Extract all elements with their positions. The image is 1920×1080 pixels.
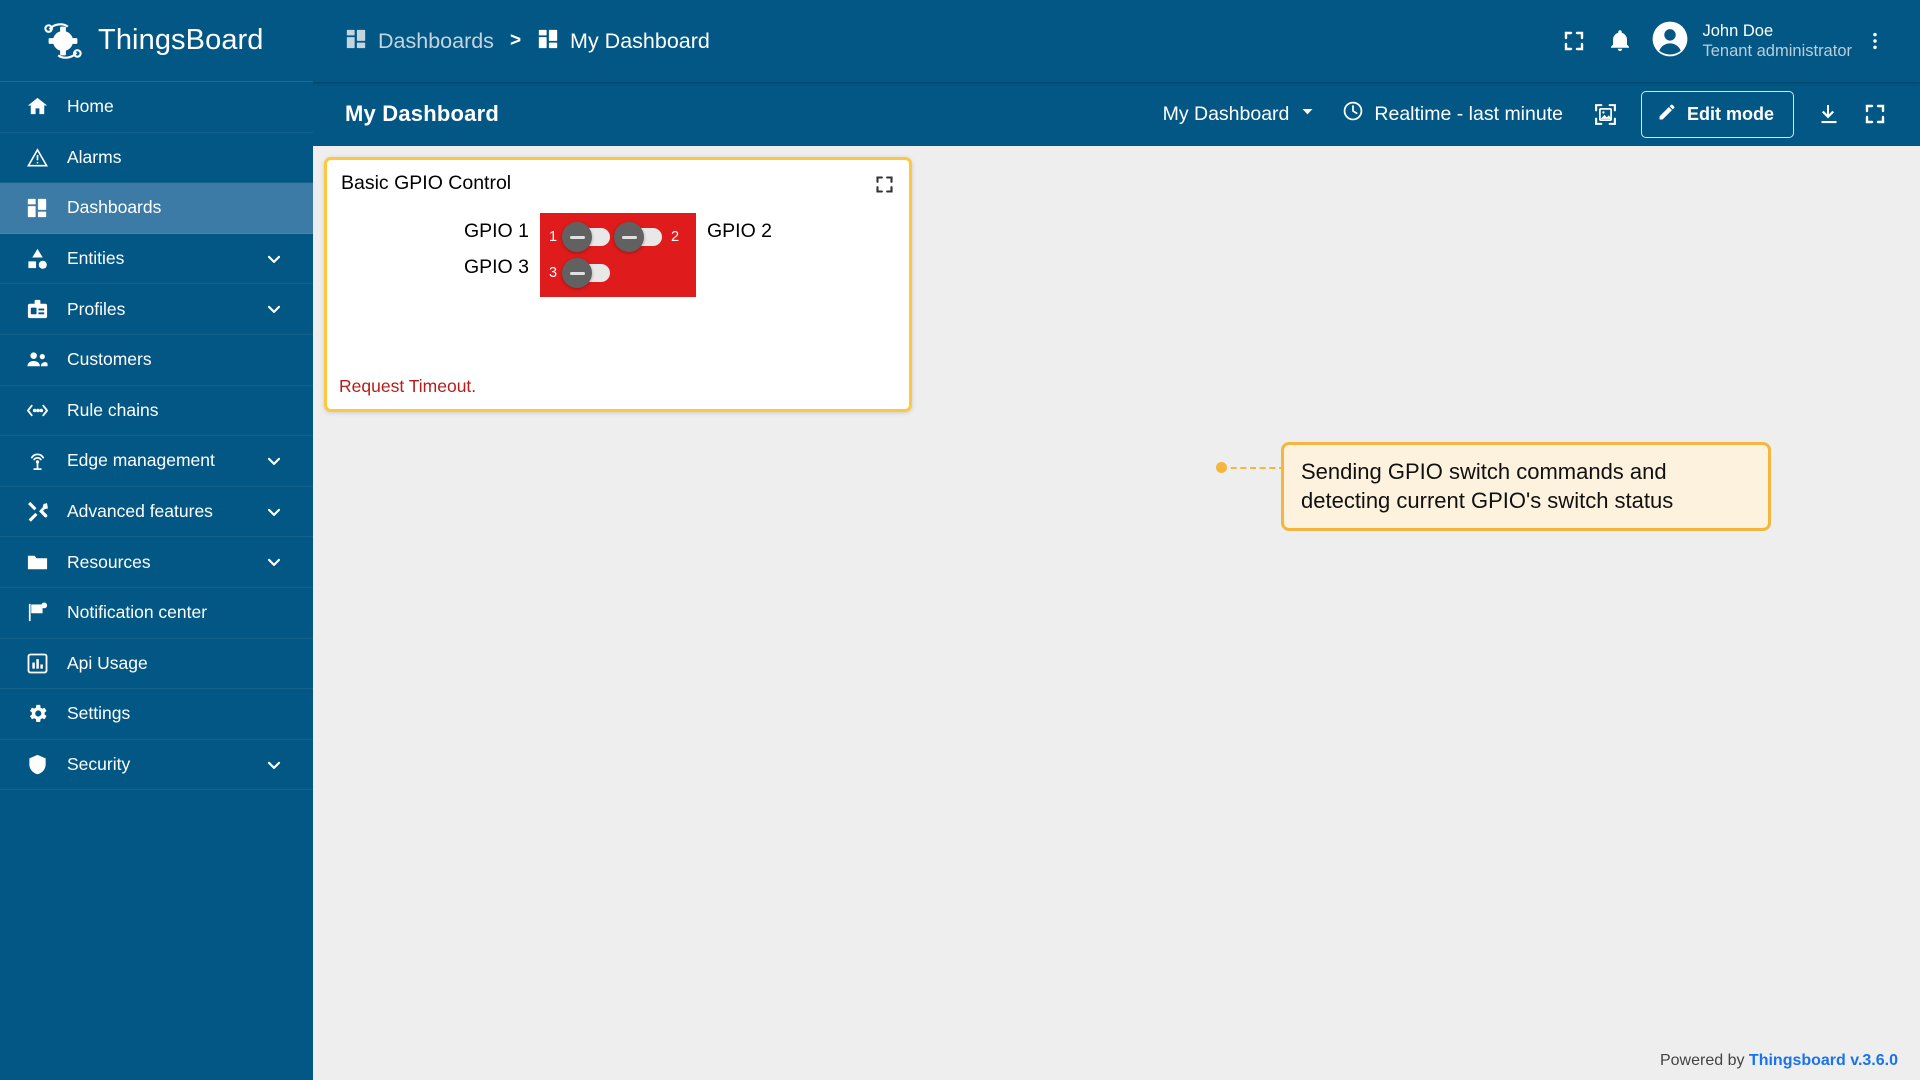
sidebar-item-label: Customers	[67, 349, 152, 370]
topbar: Dashboards > My Dashboard	[313, 0, 1920, 82]
sidebar-item-label: Resources	[67, 552, 151, 573]
timewindow-label: Realtime - last minute	[1374, 103, 1563, 126]
alarm-warning-icon	[24, 144, 50, 170]
callout-text: Sending GPIO switch commands and detecti…	[1301, 457, 1751, 515]
gpio-number-3: 3	[546, 265, 560, 281]
sidebar-item-label: Api Usage	[67, 653, 148, 674]
widget-error-message: Request Timeout.	[339, 376, 476, 397]
widget-basic-gpio-control[interactable]: Basic GPIO Control GPIO 1 GPIO 3 1	[324, 157, 912, 412]
sidebar-item-settings[interactable]: Settings	[0, 689, 313, 740]
chevron-down-icon[interactable]	[263, 298, 285, 320]
gpio-number-2: 2	[668, 229, 682, 245]
footer: Powered by Thingsboard v.3.6.0	[1660, 1052, 1898, 1070]
gpio-right-labels: GPIO 2	[696, 213, 772, 249]
user-text: John Doe Tenant administrator	[1703, 21, 1853, 61]
user-role: Tenant administrator	[1703, 41, 1853, 61]
edge-antenna-icon	[24, 448, 50, 474]
fullscreen-icon[interactable]	[1551, 18, 1597, 64]
chevron-down-icon[interactable]	[263, 501, 285, 523]
brand-title: ThingsBoard	[98, 24, 264, 57]
gpio-cell-3[interactable]: 3	[546, 255, 616, 291]
chevron-down-icon[interactable]	[263, 754, 285, 776]
edit-mode-button[interactable]: Edit mode	[1641, 91, 1794, 138]
callout-connector-line	[1221, 467, 1285, 469]
sidebar: ThingsBoard Home Alarms Dashboards	[0, 0, 313, 1080]
api-usage-chart-icon	[24, 650, 50, 676]
gpio-label-2: GPIO 2	[696, 213, 772, 249]
breadcrumb-dashboards[interactable]: Dashboards	[345, 28, 494, 55]
gpio-cell-1[interactable]: 1	[546, 219, 616, 255]
profiles-badge-icon	[24, 296, 50, 322]
gpio-label-1: GPIO 1	[464, 213, 540, 249]
sidebar-item-label: Profiles	[67, 299, 125, 320]
breadcrumb-label: My Dashboard	[570, 29, 710, 54]
edit-mode-label: Edit mode	[1687, 104, 1774, 125]
sidebar-item-home[interactable]: Home	[0, 82, 313, 133]
sidebar-item-resources[interactable]: Resources	[0, 537, 313, 588]
brand[interactable]: ThingsBoard	[0, 0, 313, 82]
dashboard-state-select[interactable]: My Dashboard	[1163, 103, 1317, 126]
advanced-tools-icon	[24, 499, 50, 525]
sidebar-item-label: Home	[67, 96, 114, 117]
gpio-toggle-1[interactable]	[564, 228, 610, 246]
dashboards-grid-icon	[345, 28, 367, 55]
main-area: Dashboards > My Dashboard	[313, 0, 1920, 1080]
sidebar-item-entities[interactable]: Entities	[0, 234, 313, 285]
dashboards-grid-icon	[24, 195, 50, 221]
sidebar-item-rule-chains[interactable]: Rule chains	[0, 386, 313, 437]
entities-icon	[24, 246, 50, 272]
user-name: John Doe	[1703, 21, 1853, 41]
gpio-switch-panel: 1 2 3	[540, 213, 696, 297]
chevron-down-icon	[1299, 103, 1316, 126]
fullscreen-icon[interactable]	[874, 172, 895, 200]
notification-flag-icon	[24, 600, 50, 626]
sidebar-item-profiles[interactable]: Profiles	[0, 284, 313, 335]
gpio-cell-empty	[616, 255, 688, 291]
sidebar-item-notification-center[interactable]: Notification center	[0, 588, 313, 639]
gpio-grid: GPIO 1 GPIO 3 1 2	[464, 213, 772, 297]
sidebar-item-label: Edge management	[67, 450, 215, 471]
sidebar-item-api-usage[interactable]: Api Usage	[0, 639, 313, 690]
breadcrumb-separator: >	[510, 30, 521, 52]
download-icon[interactable]	[1806, 91, 1852, 137]
sidebar-item-edge-management[interactable]: Edge management	[0, 436, 313, 487]
gpio-toggle-2[interactable]	[616, 228, 662, 246]
sidebar-item-label: Notification center	[67, 602, 207, 623]
breadcrumb-label: Dashboards	[378, 29, 494, 54]
toggle-thumb	[614, 222, 644, 252]
widget-header: Basic GPIO Control	[327, 160, 909, 200]
chevron-down-icon[interactable]	[263, 248, 285, 270]
gpio-cell-2[interactable]: 2	[616, 219, 688, 255]
more-vertical-icon[interactable]	[1852, 18, 1898, 64]
rule-chains-icon	[24, 397, 50, 423]
callout-annotation: Sending GPIO switch commands and detecti…	[1281, 442, 1771, 531]
sidebar-item-advanced-features[interactable]: Advanced features	[0, 487, 313, 538]
user-avatar-icon	[1651, 20, 1689, 63]
sidebar-item-customers[interactable]: Customers	[0, 335, 313, 386]
sidebar-item-dashboards[interactable]: Dashboards	[0, 183, 313, 234]
customers-people-icon	[24, 347, 50, 373]
folder-icon	[24, 549, 50, 575]
toggle-thumb	[562, 258, 592, 288]
timewindow-selector[interactable]: Realtime - last minute	[1342, 100, 1563, 128]
sidebar-item-label: Entities	[67, 248, 124, 269]
sidebar-item-security[interactable]: Security	[0, 740, 313, 791]
clock-icon	[1342, 100, 1364, 128]
sidebar-item-label: Dashboards	[67, 197, 161, 218]
footer-link[interactable]: Thingsboard v.3.6.0	[1749, 1052, 1898, 1069]
chevron-down-icon[interactable]	[263, 551, 285, 573]
sidebar-item-label: Settings	[67, 703, 130, 724]
image-background-icon[interactable]	[1583, 91, 1629, 137]
sidebar-item-label: Security	[67, 754, 130, 775]
sidebar-item-label: Rule chains	[67, 400, 158, 421]
dashboard-state-label: My Dashboard	[1163, 103, 1290, 126]
gpio-label-3: GPIO 3	[464, 249, 540, 285]
user-menu[interactable]: John Doe Tenant administrator	[1651, 20, 1853, 63]
bell-icon[interactable]	[1597, 18, 1643, 64]
pencil-icon	[1657, 102, 1677, 127]
chevron-down-icon[interactable]	[263, 450, 285, 472]
gpio-number-1: 1	[546, 229, 560, 245]
home-icon	[24, 94, 50, 120]
gear-icon	[24, 701, 50, 727]
breadcrumb-my-dashboard[interactable]: My Dashboard	[537, 28, 710, 55]
gpio-toggle-3[interactable]	[564, 264, 610, 282]
thingsboard-logo-icon	[40, 18, 86, 64]
sidebar-item-label: Alarms	[67, 147, 121, 168]
widget-title: Basic GPIO Control	[341, 172, 511, 195]
toggle-thumb	[562, 222, 592, 252]
sidebar-item-alarms[interactable]: Alarms	[0, 133, 313, 184]
dashboard-canvas: Basic GPIO Control GPIO 1 GPIO 3 1	[313, 146, 1920, 1080]
sidebar-item-label: Advanced features	[67, 501, 213, 522]
shield-icon	[24, 752, 50, 778]
dashboards-grid-icon	[537, 28, 559, 55]
dashboard-toolbar: My Dashboard My Dashboard Realtime - las…	[313, 82, 1920, 146]
gpio-left-labels: GPIO 1 GPIO 3	[464, 213, 540, 285]
app-root: ThingsBoard Home Alarms Dashboards	[0, 0, 1920, 1080]
page-title: My Dashboard	[345, 101, 499, 127]
fullscreen-icon[interactable]	[1852, 91, 1898, 137]
sidebar-nav: Home Alarms Dashboards Entities	[0, 82, 313, 1080]
footer-prefix: Powered by	[1660, 1052, 1749, 1069]
gpio-area: GPIO 1 GPIO 3 1 2	[327, 213, 909, 297]
